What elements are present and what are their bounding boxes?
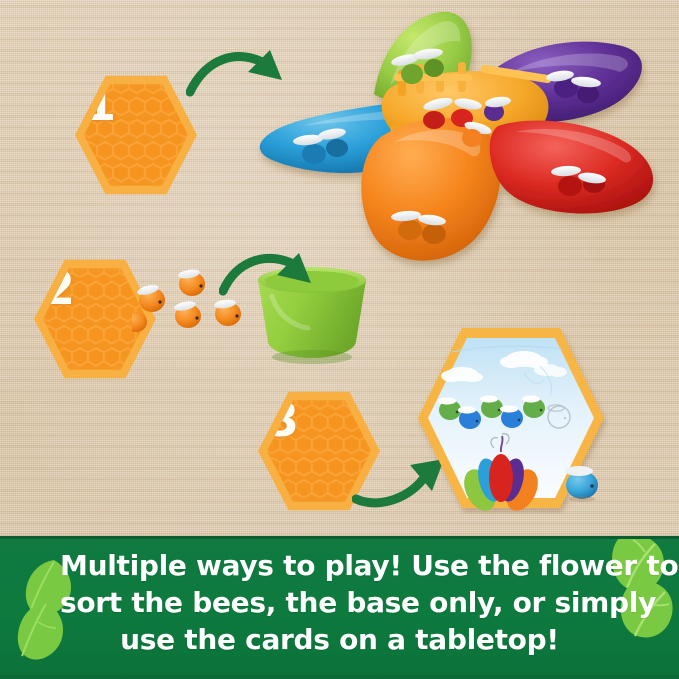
banner-line-2: sort the bees, the base only, or simply (60, 585, 619, 622)
blue-bee-figure (558, 458, 606, 502)
banner-line-1: Multiple ways to play! Use the flower to (60, 548, 619, 585)
arrow-step-2 (219, 247, 323, 305)
loose-bee (136, 283, 165, 312)
arrow-step-1 (186, 42, 296, 108)
bottom-banner: Multiple ways to play! Use the flower to… (0, 536, 679, 679)
loose-bee (177, 268, 205, 296)
loose-bee (173, 300, 201, 328)
banner-line-3: use the cards on a tabletop! (60, 622, 619, 659)
step-badge-1: 1 (75, 72, 197, 198)
banner-top-edge (0, 536, 679, 539)
loose-bee (132, 312, 147, 332)
banner-message: Multiple ways to play! Use the flower to… (60, 548, 619, 659)
banner-bottom-edge (0, 675, 679, 679)
instruction-panel: 1 2 (0, 0, 679, 679)
